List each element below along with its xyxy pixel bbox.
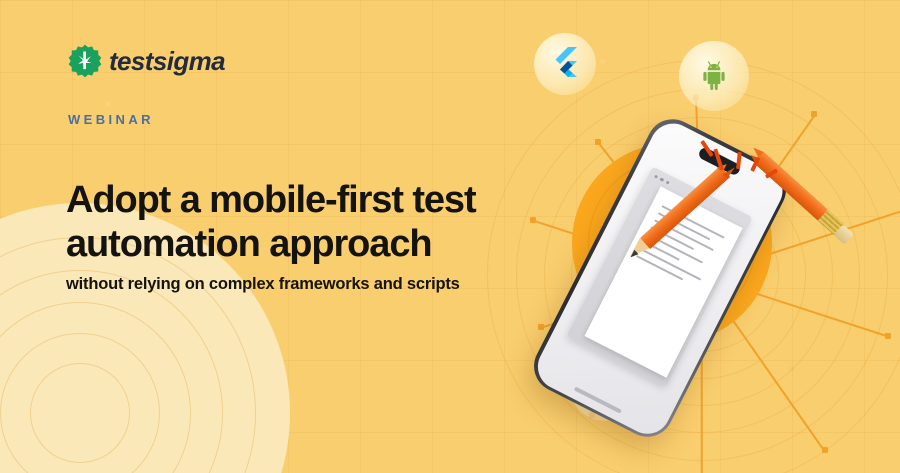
headline-line-1: Adopt a mobile-first test xyxy=(66,179,476,221)
testsigma-gear-icon xyxy=(68,44,102,78)
corner-ring xyxy=(30,363,130,463)
brand-wordmark: testsigma xyxy=(109,48,225,74)
spoke-endpoint-dot xyxy=(595,139,601,145)
platform-badge-flutter xyxy=(534,33,596,95)
headline-line-2: automation approach xyxy=(66,223,431,265)
android-icon xyxy=(697,57,731,96)
spoke-endpoint-dot xyxy=(822,447,828,453)
eyebrow-label: WEBINAR xyxy=(68,112,154,127)
subtitle: without relying on complex frameworks an… xyxy=(66,275,536,294)
page-title: Adopt a mobile-first test automation app… xyxy=(66,178,536,267)
snap-spark xyxy=(736,152,742,169)
snap-spark xyxy=(700,140,713,157)
brand-logo[interactable]: testsigma xyxy=(68,44,225,78)
flutter-icon xyxy=(553,47,577,82)
spoke-endpoint-dot xyxy=(885,333,891,339)
webinar-banner: testsigma WEBINAR Adopt a mobile-first t… xyxy=(0,0,900,473)
spoke-endpoint-dot xyxy=(811,111,817,117)
snap-spark xyxy=(713,148,724,170)
broken-pencils-illustration xyxy=(640,130,870,260)
spoke-endpoint-dot xyxy=(538,324,544,330)
platform-badge-android xyxy=(679,41,749,111)
